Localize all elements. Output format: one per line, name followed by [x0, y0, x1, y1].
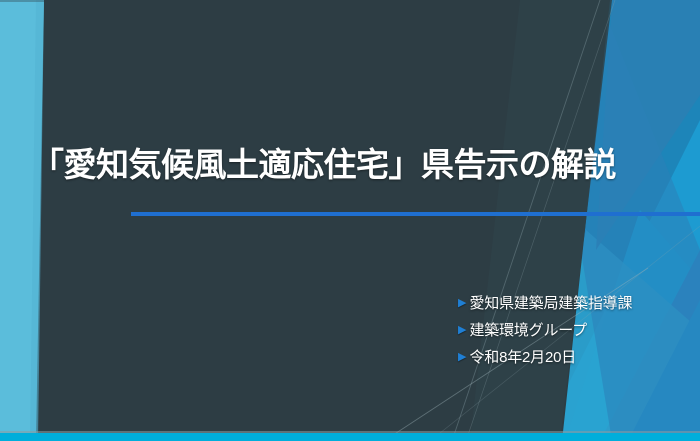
- slide-title: 「愛知気候風土適応住宅」県告示の解説: [31, 143, 631, 188]
- background-facets: [0, 0, 700, 441]
- title-slide: 「愛知気候風土適応住宅」県告示の解説 ▶ 愛知県建築局建築指導課 ▶ 建築環境グ…: [0, 0, 700, 441]
- subtitle-item-label: 愛知県建築局建築指導課: [469, 296, 632, 311]
- bottom-accent-bar: [0, 433, 700, 441]
- title-accent-rule: [131, 212, 700, 216]
- list-item: ▶ 建築環境グループ: [458, 317, 632, 344]
- subtitle-list: ▶ 愛知県建築局建築指導課 ▶ 建築環境グループ ▶ 令和8年2月20日: [458, 290, 632, 371]
- list-item: ▶ 令和8年2月20日: [458, 344, 632, 371]
- subtitle-item-label: 建築環境グループ: [469, 323, 587, 338]
- list-item: ▶ 愛知県建築局建築指導課: [458, 290, 632, 317]
- bullet-triangle-icon: ▶: [458, 352, 466, 363]
- bullet-triangle-icon: ▶: [458, 298, 466, 309]
- subtitle-item-label: 令和8年2月20日: [469, 350, 576, 365]
- bullet-triangle-icon: ▶: [458, 325, 466, 336]
